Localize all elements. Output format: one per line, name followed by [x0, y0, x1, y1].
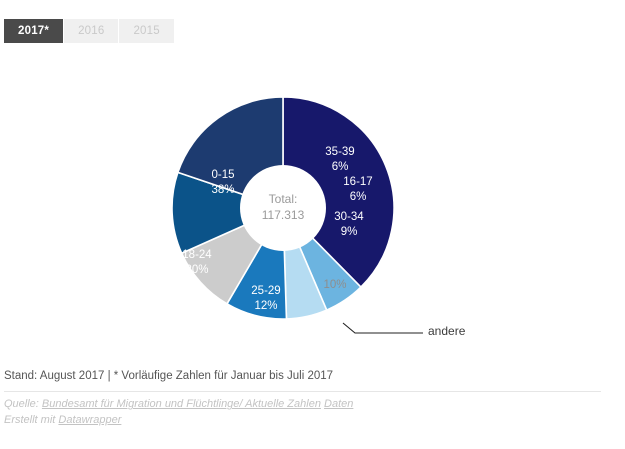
total-label: Total:: [238, 192, 328, 208]
tab-2015[interactable]: 2015: [118, 19, 173, 43]
source-prefix: Quelle:: [4, 398, 42, 410]
credit-prefix: Erstellt mit: [4, 414, 58, 426]
total-value: 117.313: [238, 208, 328, 224]
donut-chart: 0-15 38% 35-39 6% 16-17 6% 30-34 9% 10% …: [0, 52, 625, 357]
credit-line: Erstellt mit Datawrapper: [4, 413, 604, 429]
source-line: Quelle: Bundesamt für Migration und Flüc…: [4, 397, 604, 413]
credit-link-datawrapper[interactable]: Datawrapper: [58, 414, 121, 426]
chart-footer: Stand: August 2017 | * Vorläufige Zahlen…: [4, 368, 604, 429]
footer-divider: [4, 391, 601, 392]
andere-annotation-label: andere: [428, 324, 465, 338]
footnote-text: Stand: August 2017 | * Vorläufige Zahlen…: [4, 368, 604, 385]
bottom-spacer: [0, 437, 625, 449]
year-tab-bar: 2017* 2016 2015: [4, 19, 174, 43]
donut-center-total: Total: 117.313: [238, 192, 328, 223]
tab-2016[interactable]: 2016: [63, 19, 118, 43]
tab-2017[interactable]: 2017*: [4, 19, 63, 43]
source-block: Quelle: Bundesamt für Migration und Flüc…: [4, 397, 604, 429]
source-link-daten[interactable]: Daten: [324, 398, 353, 410]
chart-page: 2017* 2016 2015 0-15 38% 35-39 6% 16-17 …: [0, 0, 625, 449]
source-link-bamf[interactable]: Bundesamt für Migration und Flüchtlinge/…: [42, 398, 321, 410]
andere-leader-line: [343, 323, 423, 333]
